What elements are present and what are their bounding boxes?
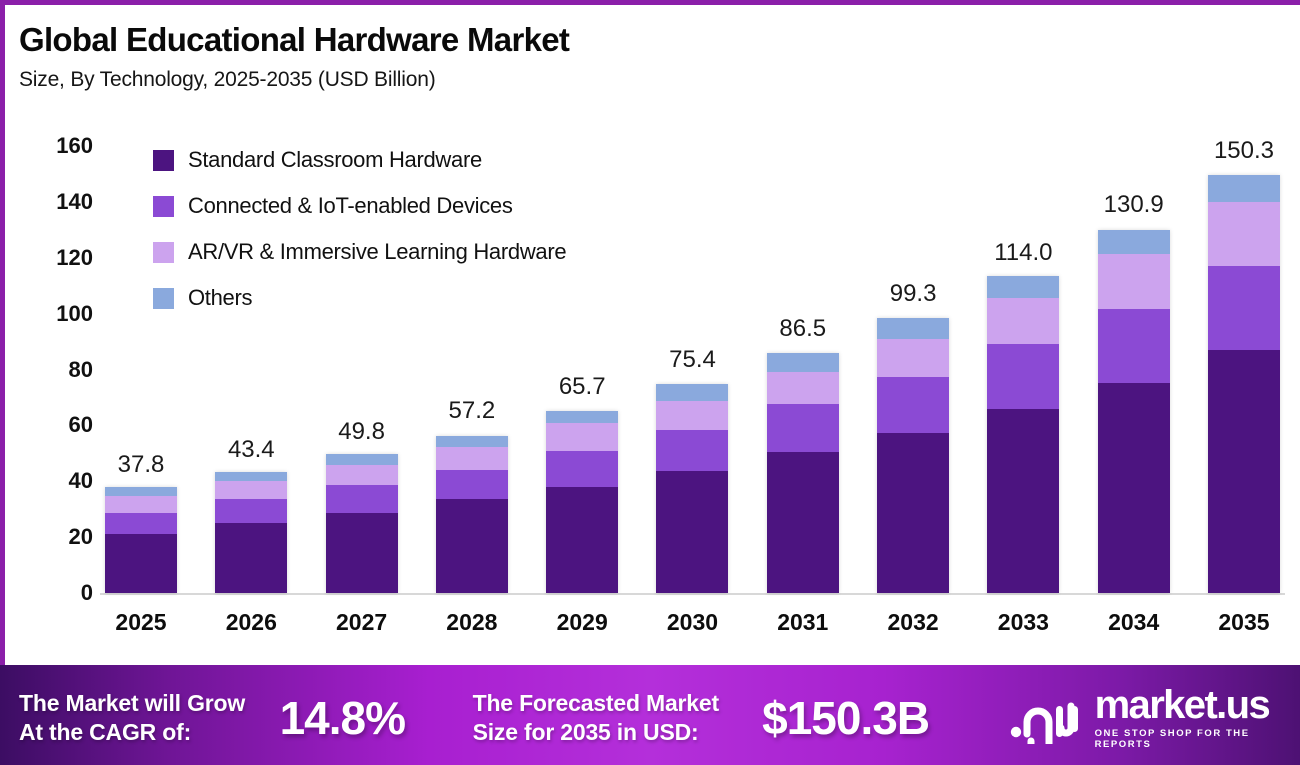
cagr-label-line1: The Market will Grow [19,689,280,717]
bar-column[interactable]: 57.2 [431,125,513,593]
stacked-bar[interactable] [656,384,728,593]
bar-segment[interactable] [767,452,839,593]
bar-segment[interactable] [436,470,508,500]
bar-segment[interactable] [215,499,287,522]
forecast-label: The Forecasted Market Size for 2035 in U… [473,689,763,745]
bar-segment[interactable] [546,451,618,487]
bar-column[interactable]: 37.8 [100,125,182,593]
stacked-bar[interactable] [105,487,177,593]
bar-series-container: 37.843.449.857.265.775.486.599.3114.0130… [100,125,1285,593]
x-axis-tick-label: 2030 [651,609,733,645]
bar-column[interactable]: 99.3 [872,125,954,593]
x-axis-tick-label: 2025 [100,609,182,645]
bar-column[interactable]: 43.4 [210,125,292,593]
bar-segment[interactable] [215,523,287,593]
x-axis-tick-label: 2034 [1093,609,1175,645]
bar-total-label: 75.4 [669,346,716,374]
x-axis-line [100,593,1285,595]
bar-segment[interactable] [326,513,398,593]
bar-segment[interactable] [656,471,728,593]
infographic-page: Global Educational Hardware Market Size,… [0,0,1300,765]
bar-column[interactable]: 150.3 [1203,125,1285,593]
x-axis-tick-label: 2026 [210,609,292,645]
y-axis: 020406080100120140160 [5,125,93,595]
cagr-label: The Market will Grow At the CAGR of: [19,689,280,745]
bar-segment[interactable] [877,377,949,433]
bar-total-label: 86.5 [779,315,826,343]
bar-total-label: 43.4 [228,436,275,464]
bar-segment[interactable] [436,447,508,470]
stacked-bar[interactable] [1208,175,1280,593]
bar-segment[interactable] [546,487,618,593]
bar-segment[interactable] [105,487,177,496]
y-axis-tick-label: 80 [7,357,93,383]
bar-total-label: 99.3 [890,280,937,308]
bar-segment[interactable] [1098,309,1170,383]
y-axis-tick-label: 60 [7,412,93,438]
market-us-logo-icon [1009,692,1083,744]
bar-segment[interactable] [1208,202,1280,266]
bar-segment[interactable] [1208,266,1280,350]
bar-segment[interactable] [767,404,839,452]
bar-segment[interactable] [656,401,728,430]
bar-segment[interactable] [987,409,1059,593]
bar-segment[interactable] [656,384,728,401]
x-axis-tick-label: 2029 [541,609,623,645]
page-subtitle: Size, By Technology, 2025-2035 (USD Bill… [19,68,569,92]
bar-segment[interactable] [1098,230,1170,255]
page-title: Global Educational Hardware Market [19,21,569,59]
bar-column[interactable]: 49.8 [321,125,403,593]
stacked-bar[interactable] [546,411,618,593]
bar-total-label: 57.2 [449,397,496,425]
bar-total-label: 37.8 [118,451,165,479]
cagr-label-line2: At the CAGR of: [19,718,280,746]
stacked-bar[interactable] [215,472,287,593]
bar-total-label: 130.9 [1104,191,1164,219]
footer-banner: The Market will Grow At the CAGR of: 14.… [0,665,1300,765]
market-us-logo-text: market.us ONE STOP SHOP FOR THE REPORTS [1095,686,1300,750]
x-axis-tick-label: 2035 [1203,609,1285,645]
bar-segment[interactable] [546,423,618,451]
y-axis-tick-label: 0 [7,580,93,606]
bar-column[interactable]: 130.9 [1093,125,1175,593]
bar-segment[interactable] [877,433,949,593]
x-axis-tick-label: 2032 [872,609,954,645]
stacked-bar[interactable] [1098,230,1170,593]
bar-segment[interactable] [326,465,398,486]
bar-total-label: 150.3 [1214,137,1274,165]
stacked-bar[interactable] [877,318,949,593]
bar-segment[interactable] [436,499,508,593]
x-axis-labels: 2025202620272028202920302031203220332034… [100,609,1285,645]
bar-segment[interactable] [1208,350,1280,593]
x-axis-tick-label: 2031 [762,609,844,645]
bar-segment[interactable] [1208,175,1280,202]
forecast-label-line2: Size for 2035 in USD: [473,718,763,746]
stacked-bar[interactable] [987,276,1059,593]
bar-segment[interactable] [1098,254,1170,308]
x-axis-tick-label: 2027 [321,609,403,645]
bar-column[interactable]: 114.0 [982,125,1064,593]
bar-segment[interactable] [105,496,177,513]
x-axis-tick-label: 2033 [982,609,1064,645]
y-axis-tick-label: 100 [7,301,93,327]
bar-segment[interactable] [215,472,287,481]
stacked-bar[interactable] [326,454,398,593]
bar-segment[interactable] [1098,383,1170,593]
bar-segment[interactable] [877,318,949,339]
logo-wordmark: market.us [1095,683,1270,727]
bar-segment[interactable] [987,276,1059,299]
bar-segment[interactable] [436,436,508,447]
bar-total-label: 49.8 [338,418,385,446]
y-axis-tick-label: 160 [7,133,93,159]
y-axis-tick-label: 20 [7,524,93,550]
y-axis-tick-label: 40 [7,468,93,494]
chart-header: Global Educational Hardware Market Size,… [19,21,569,92]
bar-segment[interactable] [877,339,949,377]
bar-segment[interactable] [987,298,1059,344]
bar-total-label: 114.0 [994,239,1052,267]
bar-segment[interactable] [326,485,398,512]
bar-segment[interactable] [105,513,177,533]
bar-column[interactable]: 75.4 [651,125,733,593]
bar-segment[interactable] [987,344,1059,408]
y-axis-tick-label: 120 [7,245,93,271]
logo-tagline: ONE STOP SHOP FOR THE REPORTS [1095,728,1300,750]
bar-column[interactable]: 86.5 [762,125,844,593]
cagr-value: 14.8% [280,691,473,745]
stacked-bar[interactable] [767,353,839,593]
bar-segment[interactable] [767,353,839,373]
bar-segment[interactable] [656,430,728,471]
y-axis-tick-label: 140 [7,189,93,215]
forecast-value: $150.3B [762,691,998,745]
bar-segment[interactable] [326,454,398,465]
market-us-logo[interactable]: market.us ONE STOP SHOP FOR THE REPORTS [1009,686,1300,750]
bar-segment[interactable] [215,481,287,500]
bar-column[interactable]: 65.7 [541,125,623,593]
bar-segment[interactable] [546,411,618,424]
bar-segment[interactable] [767,372,839,404]
forecast-label-line1: The Forecasted Market [473,689,763,717]
stacked-bar[interactable] [436,436,508,593]
x-axis-tick-label: 2028 [431,609,513,645]
bar-segment[interactable] [105,534,177,594]
bar-total-label: 65.7 [559,373,606,401]
